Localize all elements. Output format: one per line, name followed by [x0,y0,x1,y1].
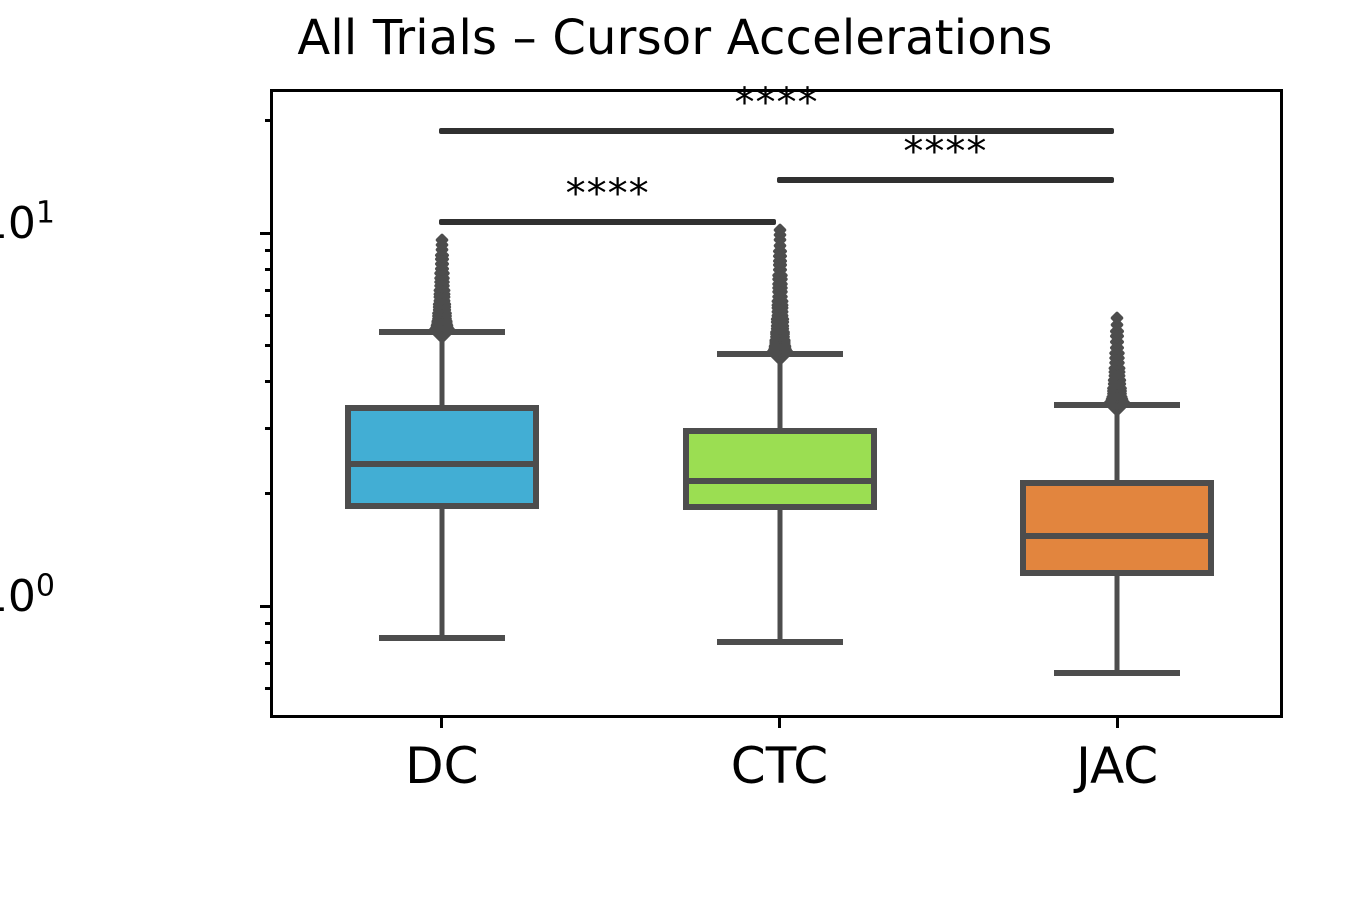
whisker-cap-lower-jac [1054,670,1180,676]
x-axis-tick [1116,715,1119,728]
significance-label-dc-ctc: **** [566,171,650,217]
box-jac [1020,480,1214,577]
y-axis-tick-minor [265,344,273,347]
significance-bar-dc-ctc [439,219,777,225]
y-axis-tick-minor [265,687,273,690]
whisker-cap-lower-ctc [717,639,843,645]
median-line-ctc [683,478,877,484]
x-axis-tick-label-dc: DC [405,737,478,795]
y-axis-tick-label: 101 [0,198,55,249]
x-axis-tick [778,715,781,728]
box-ctc [683,428,877,510]
significance-label-dc-jac: **** [735,80,819,126]
plot-axes: DCCTCJAC [270,89,1283,718]
y-axis-tick-major [260,232,273,235]
figure: All Trials – Cursor Accelerations RMSE (… [0,0,1350,900]
plot-area: DCCTCJAC [273,92,1280,715]
x-axis-tick-label-jac: JAC [1076,737,1158,795]
median-line-dc [345,461,539,467]
tick-base: 10 [0,198,36,249]
y-axis-tick-minor [265,622,273,625]
significance-label-ctc-jac: **** [903,129,987,175]
chart-title: All Trials – Cursor Accelerations [0,10,1350,66]
y-axis-tick-minor [265,380,273,383]
y-axis-tick-minor [265,662,273,665]
whisker-lower-dc [439,509,444,638]
y-axis-tick-minor [265,249,273,252]
tick-exponent: 1 [36,195,55,230]
y-axis-tick-minor [265,427,273,430]
whisker-lower-jac [1115,576,1120,673]
whisker-cap-lower-dc [379,635,505,641]
x-axis-tick [440,715,443,728]
y-axis-tick-minor [265,289,273,292]
significance-bar-ctc-jac [777,177,1115,183]
whisker-lower-ctc [777,510,782,642]
y-axis-tick-minor [265,641,273,644]
y-axis-tick-label: 100 [0,571,55,622]
y-axis-tick-minor [265,314,273,317]
tick-exponent: 0 [36,568,55,603]
median-line-jac [1020,533,1214,539]
y-axis-tick-minor [265,268,273,271]
box-dc [345,405,539,509]
x-axis-tick-label-ctc: CTC [731,737,828,795]
y-axis-tick-minor [265,492,273,495]
y-axis-tick-minor [265,119,273,122]
significance-bar-dc-jac [439,128,1114,134]
y-axis-tick-major [260,605,273,608]
tick-base: 10 [0,571,36,622]
